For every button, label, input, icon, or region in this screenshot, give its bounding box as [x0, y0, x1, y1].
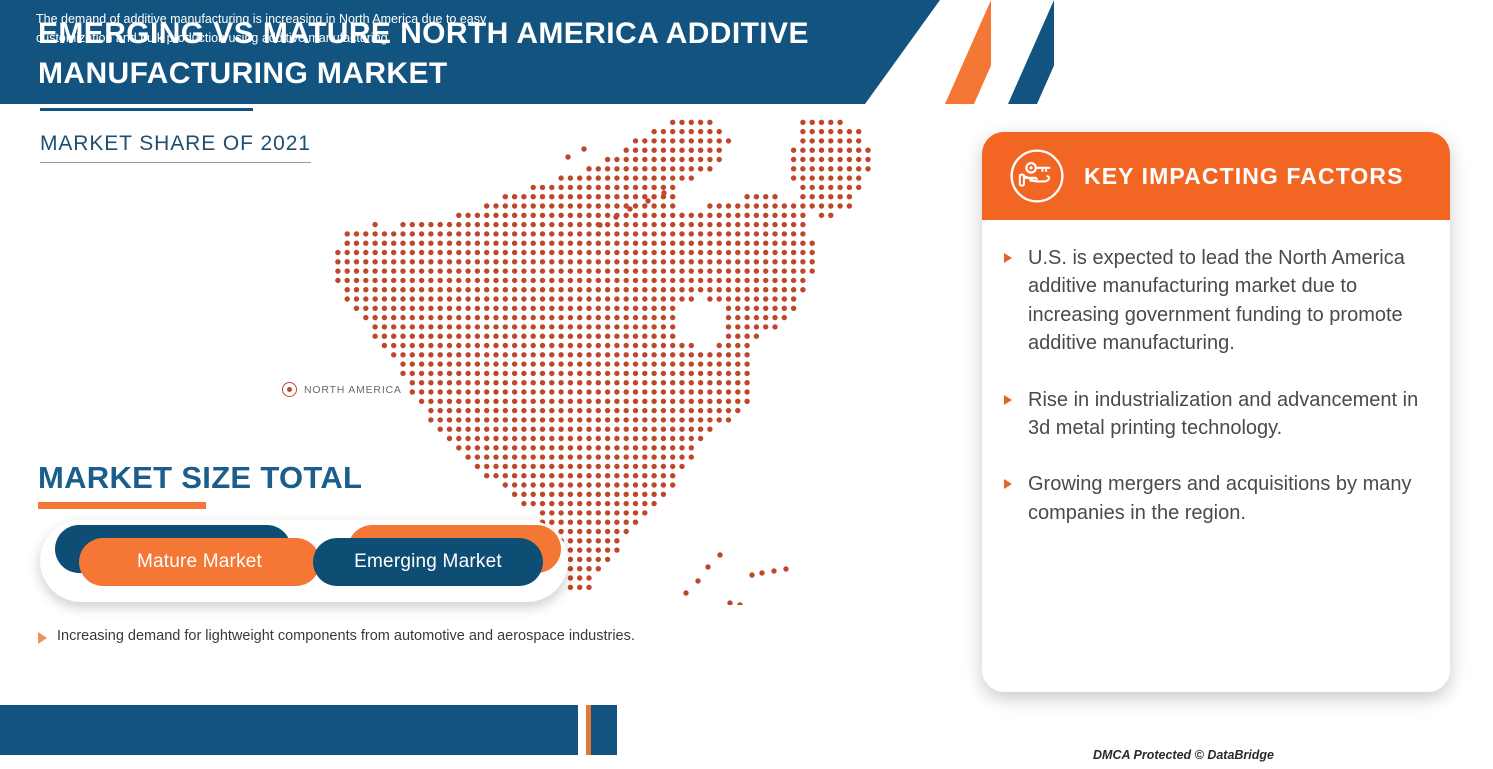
key-factor-text: Growing mergers and acquisitions by many… — [1028, 470, 1424, 527]
market-pill-group: Mature Market Emerging Market — [40, 520, 568, 602]
key-impacting-factors-card: KEY IMPACTING FACTORS U.S. is expected t… — [982, 132, 1450, 692]
bottom-banner-text: The demand of additive manufacturing is … — [36, 10, 556, 48]
market-size-total-rule — [38, 502, 206, 509]
left-note-text: Increasing demand for lightweight compon… — [57, 626, 635, 647]
key-factor-text: U.S. is expected to lead the North Ameri… — [1028, 244, 1424, 358]
key-factor-text: Rise in industrialization and advancemen… — [1028, 386, 1424, 443]
market-size-total-block: MARKET SIZE TOTAL — [38, 462, 362, 509]
key-factors-title: KEY IMPACTING FACTORS — [1084, 163, 1404, 190]
header-stripe-orange — [945, 0, 991, 104]
triangle-bullet-icon — [38, 632, 47, 644]
triangle-bullet-icon — [1004, 253, 1012, 263]
list-item: Rise in industrialization and advancemen… — [1004, 386, 1424, 443]
dmca-notice: DMCA Protected © DataBridge — [1093, 748, 1274, 762]
key-factors-list: U.S. is expected to lead the North Ameri… — [982, 220, 1450, 527]
map-legend: NORTH AMERICA — [282, 382, 402, 397]
banner-accent-blue — [591, 705, 617, 755]
header-stripe-blue — [1008, 0, 1054, 104]
header-underline-rule — [40, 108, 253, 111]
infographic-canvas: EMERGING VS MATURE NORTH AMERICA ADDITIV… — [0, 0, 1493, 769]
banner-gap — [578, 705, 586, 755]
bottom-banner — [0, 705, 578, 755]
left-note: Increasing demand for lightweight compon… — [38, 626, 638, 647]
map-legend-label: NORTH AMERICA — [304, 384, 402, 396]
pill-mature-market[interactable]: Mature Market — [55, 535, 320, 583]
triangle-bullet-icon — [1004, 395, 1012, 405]
market-share-label: MARKET SHARE OF 2021 — [40, 132, 311, 163]
list-item: U.S. is expected to lead the North Ameri… — [1004, 244, 1424, 358]
pill-emerging-market[interactable]: Emerging Market — [313, 535, 563, 583]
target-circle-icon — [282, 382, 297, 397]
triangle-bullet-icon — [1004, 479, 1012, 489]
list-item: Growing mergers and acquisitions by many… — [1004, 470, 1424, 527]
pill-emerging-label[interactable]: Emerging Market — [313, 538, 543, 586]
hand-holding-key-icon — [1008, 147, 1066, 205]
market-size-total-title: MARKET SIZE TOTAL — [38, 462, 362, 493]
market-share-label-wrap: MARKET SHARE OF 2021 — [40, 132, 311, 163]
key-factors-header: KEY IMPACTING FACTORS — [982, 132, 1450, 220]
pill-mature-label[interactable]: Mature Market — [79, 538, 320, 586]
